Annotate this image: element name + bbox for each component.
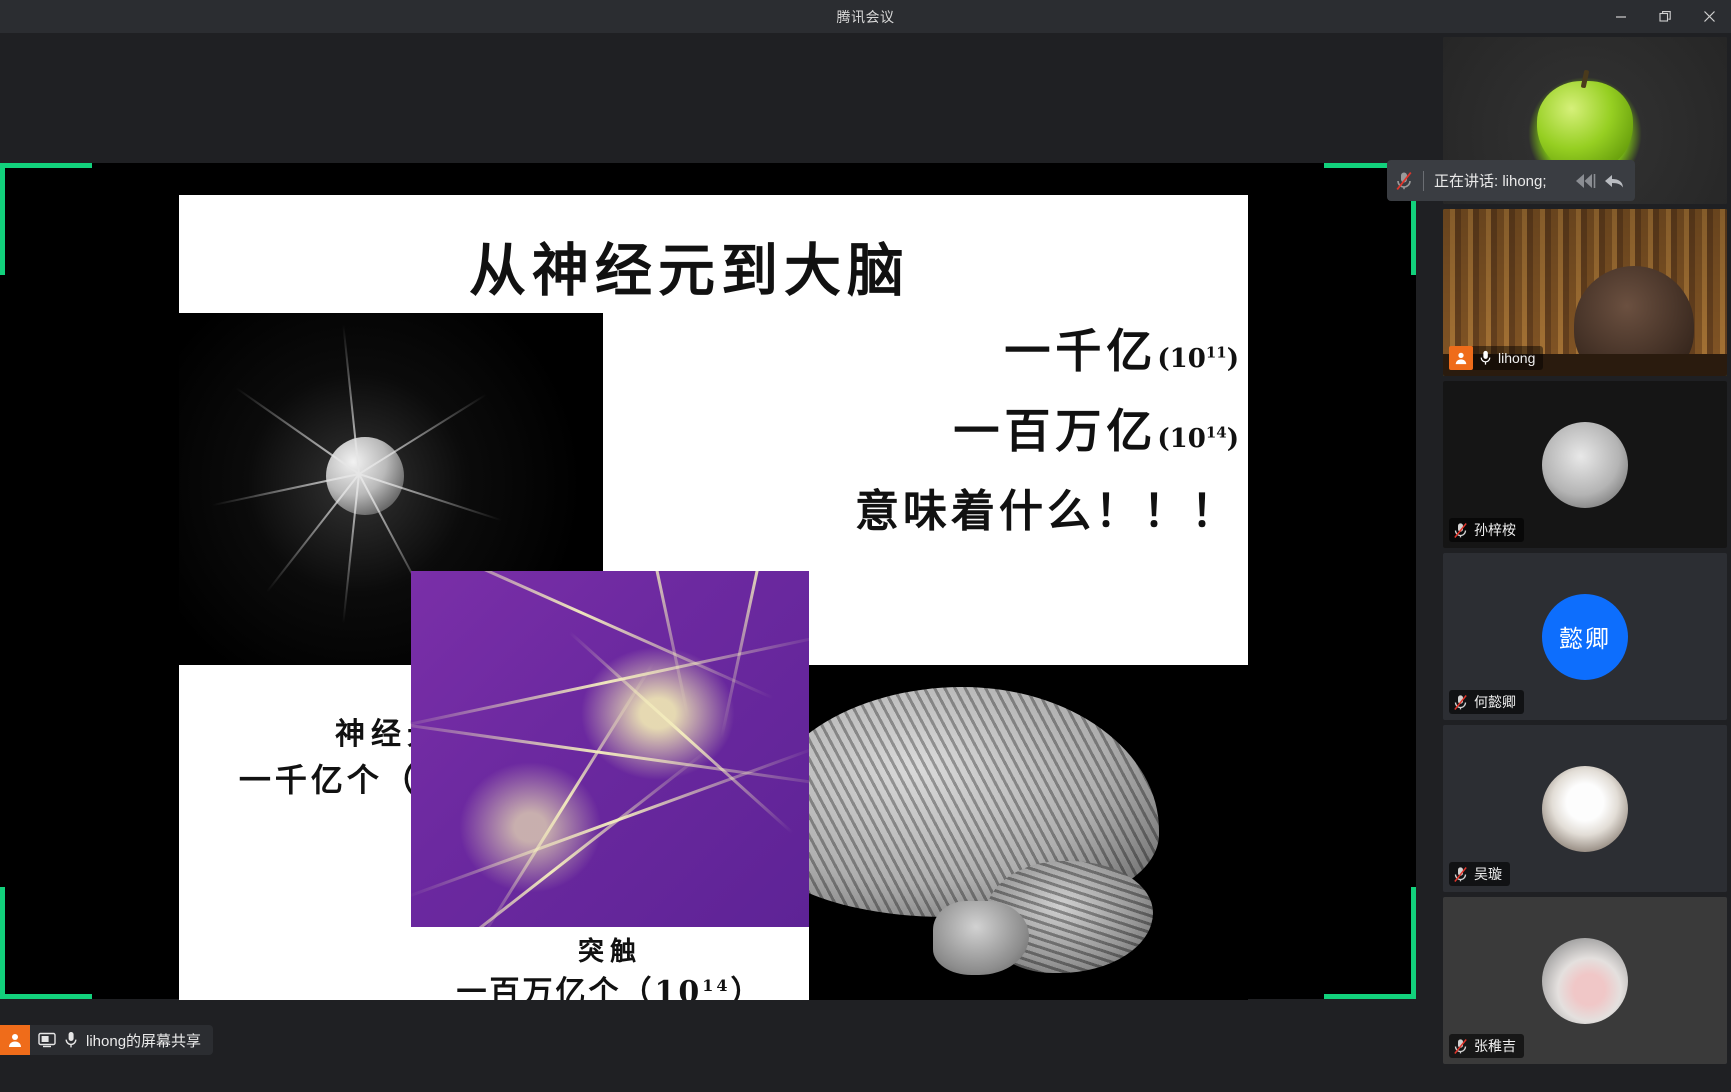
mic-on-icon [64,1031,78,1049]
slide-count-line-1: 一千亿(1011) [739,315,1239,381]
neuron-filament [236,387,360,475]
banner-divider [1423,171,1424,191]
synapse-label-line2: 一百万亿个（1014） [411,967,809,1000]
host-badge-icon [0,1025,30,1055]
slide-exclamation: 意味着什么！！！ [739,475,1239,539]
participant-name: 张稚吉 [1474,1036,1516,1056]
screen-share-status-text: lihong的屏幕共享 [86,1030,201,1051]
share-border-bottom-right-v [1411,887,1416,999]
shared-screen-stage[interactable]: 从神经元到大脑 一千亿(1011) 一百万亿(1014) 意味着什么！！！ [0,33,1437,1057]
purple-fiber [760,571,809,748]
window-controls [1599,0,1731,33]
purple-fiber [411,571,773,699]
participant-tile[interactable]: 张稚吉 [1443,897,1727,1064]
close-button[interactable] [1687,0,1731,33]
presentation-slide: 从神经元到大脑 一千亿(1011) 一百万亿(1014) 意味着什么！！！ [179,195,1248,1000]
collapse-rail-icon[interactable] [1573,172,1599,190]
participant-name: 何懿卿 [1474,692,1516,712]
participant-tile-active-speaker[interactable]: lihong [1443,209,1727,376]
mic-muted-icon [1453,1038,1468,1055]
host-badge-icon [1449,346,1473,370]
participant-name-chip: 吴璇 [1449,862,1510,886]
neuron-filament [358,394,486,475]
screen-share-status[interactable]: lihong的屏幕共享 [0,1025,213,1055]
count-line-1-power: (1011) [1157,344,1239,374]
reply-arrow-icon[interactable] [1603,172,1625,190]
participant-name-chip: 孙梓桉 [1449,518,1524,542]
participant-avatar-photo [1542,766,1628,852]
bottom-status-bar: lihong的屏幕共享 [0,1022,1437,1057]
participant-avatar-photo [1542,422,1628,508]
share-border-bottom-left-h [0,994,92,999]
mic-muted-icon [1453,522,1468,539]
slide-count-lines: 一千亿(1011) 一百万亿(1014) 意味着什么！！！ [739,315,1239,553]
purple-fiber [411,746,809,899]
avatar: 懿卿 [1542,594,1628,680]
participant-avatar-photo [1542,938,1628,1024]
purple-fiber [569,631,794,834]
speaking-banner: 正在讲话: lihong; [1387,160,1635,201]
participant-name: lihong [1498,350,1535,366]
count-line-1-main: 一千亿 [1004,324,1157,378]
participant-name: 孙梓桉 [1474,520,1516,540]
mic-muted-icon [1395,171,1413,191]
slide-title: 从神经元到大脑 [469,225,910,307]
minimize-button[interactable] [1599,0,1643,33]
share-border-top-left-v [0,163,5,275]
synapse-label-line1: 突触 [411,931,809,968]
purple-fiber [411,634,809,730]
tencent-meeting-window: 腾讯会议 [0,0,1731,1092]
mic-on-icon [1479,350,1492,366]
speaking-banner-text: 正在讲话: lihong; [1434,170,1547,191]
participant-name: 吴璇 [1474,864,1502,884]
participant-tile[interactable]: 懿卿 何懿卿 [1443,553,1727,720]
share-border-bottom-right-h [1324,994,1416,999]
share-border-bottom-left-v [0,887,5,999]
maximize-restore-button[interactable] [1643,0,1687,33]
synapse-label-box: 突触 一百万亿个（1014） [411,927,809,1000]
count-line-2-power: (1014) [1157,424,1239,454]
purple-neuron-image [411,571,809,927]
window-title: 腾讯会议 [837,7,895,27]
participant-tile[interactable]: 吴璇 [1443,725,1727,892]
mic-muted-icon [1453,866,1468,883]
avatar-initials: 懿卿 [1559,619,1611,654]
share-border-top-left-h [0,163,92,168]
purple-fiber [411,748,710,927]
speaking-banner-actions [1573,172,1625,190]
participant-name-chip: lihong [1449,346,1543,370]
participant-name-chip: 何懿卿 [1449,690,1524,714]
participant-name-chip: 张稚吉 [1449,1034,1524,1058]
title-bar: 腾讯会议 [0,0,1731,33]
participant-tile[interactable]: 孙梓桉 [1443,381,1727,548]
count-line-2-main: 一百万亿 [953,404,1157,458]
slide-count-line-2: 一百万亿(1014) [739,395,1239,461]
screen-share-icon [38,1032,56,1048]
mic-muted-icon [1453,694,1468,711]
